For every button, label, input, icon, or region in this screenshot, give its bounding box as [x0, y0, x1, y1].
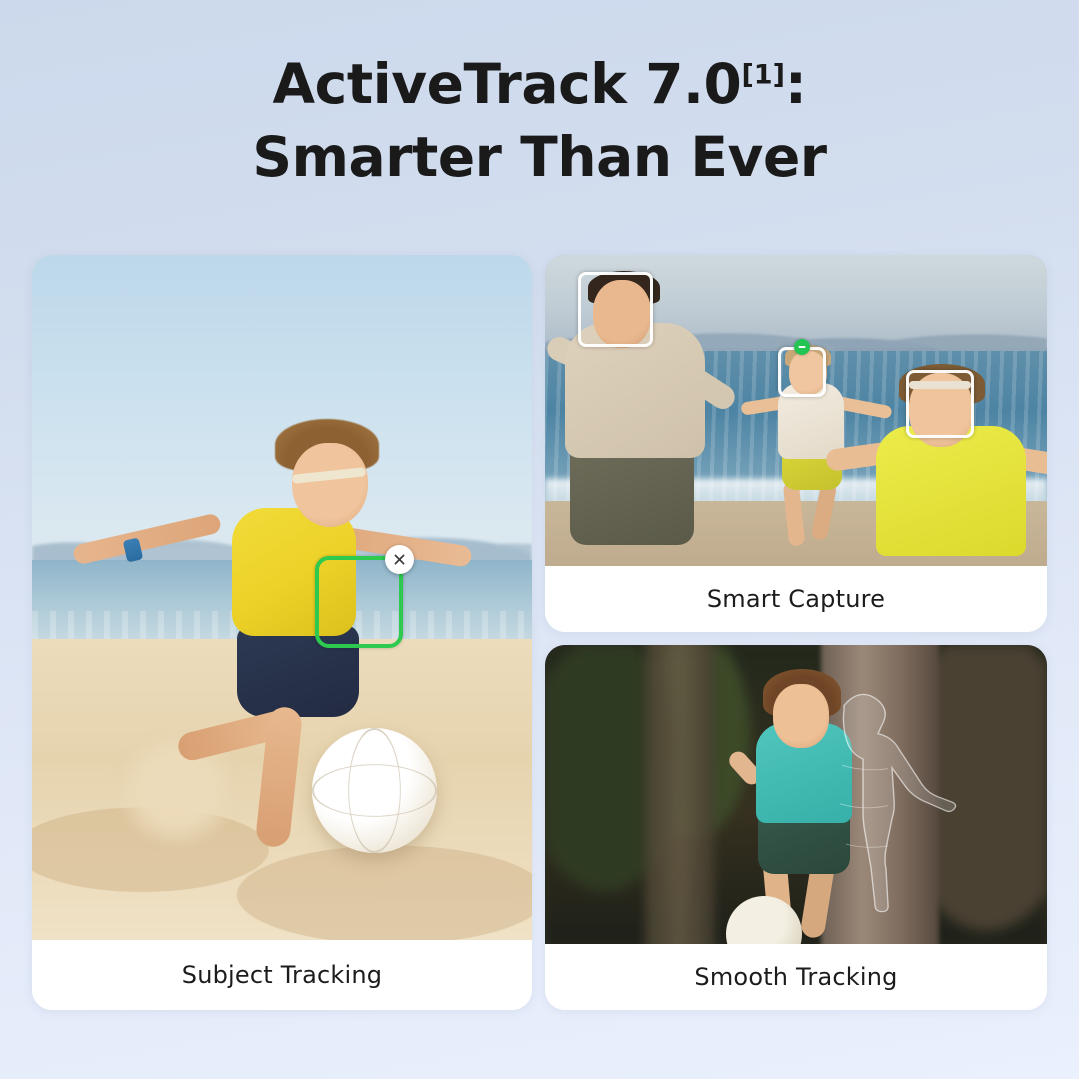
- face-box-boy[interactable]: [906, 370, 974, 438]
- face-box-man[interactable]: [578, 272, 653, 347]
- boy-head: [292, 443, 368, 527]
- face-box-girl[interactable]: [778, 347, 826, 397]
- page-header: ActiveTrack 7.0[1]: Smarter Than Ever: [0, 0, 1079, 193]
- photo-subject-tracking: [32, 255, 532, 940]
- card-subject-tracking[interactable]: Subject Tracking: [32, 255, 532, 1010]
- card-smart-capture[interactable]: Smart Capture: [545, 255, 1047, 632]
- title-colon: :: [785, 52, 807, 116]
- background-tree-trunk: [645, 645, 715, 944]
- caption-smooth-tracking: Smooth Tracking: [545, 944, 1047, 1010]
- motion-ghost-outline: [816, 681, 966, 944]
- page-title: ActiveTrack 7.0[1]: Smarter Than Ever: [0, 48, 1079, 193]
- feature-card-grid: Subject Tracking: [32, 255, 1047, 1010]
- title-line-2: Smarter Than Ever: [252, 125, 826, 189]
- subject-tracking-bracket[interactable]: [315, 556, 403, 648]
- footnote-marker: [1]: [741, 60, 784, 91]
- caption-subject-tracking: Subject Tracking: [32, 940, 532, 1010]
- title-line-1: ActiveTrack 7.0: [272, 52, 741, 116]
- close-icon[interactable]: [385, 545, 414, 574]
- volleyball: [312, 728, 437, 853]
- card-smooth-tracking[interactable]: Smooth Tracking: [545, 645, 1047, 1010]
- photo-smooth-tracking: [545, 645, 1047, 944]
- photo-smart-capture: [545, 255, 1047, 566]
- caption-smart-capture: Smart Capture: [545, 566, 1047, 632]
- active-subject-indicator-icon: [794, 339, 810, 355]
